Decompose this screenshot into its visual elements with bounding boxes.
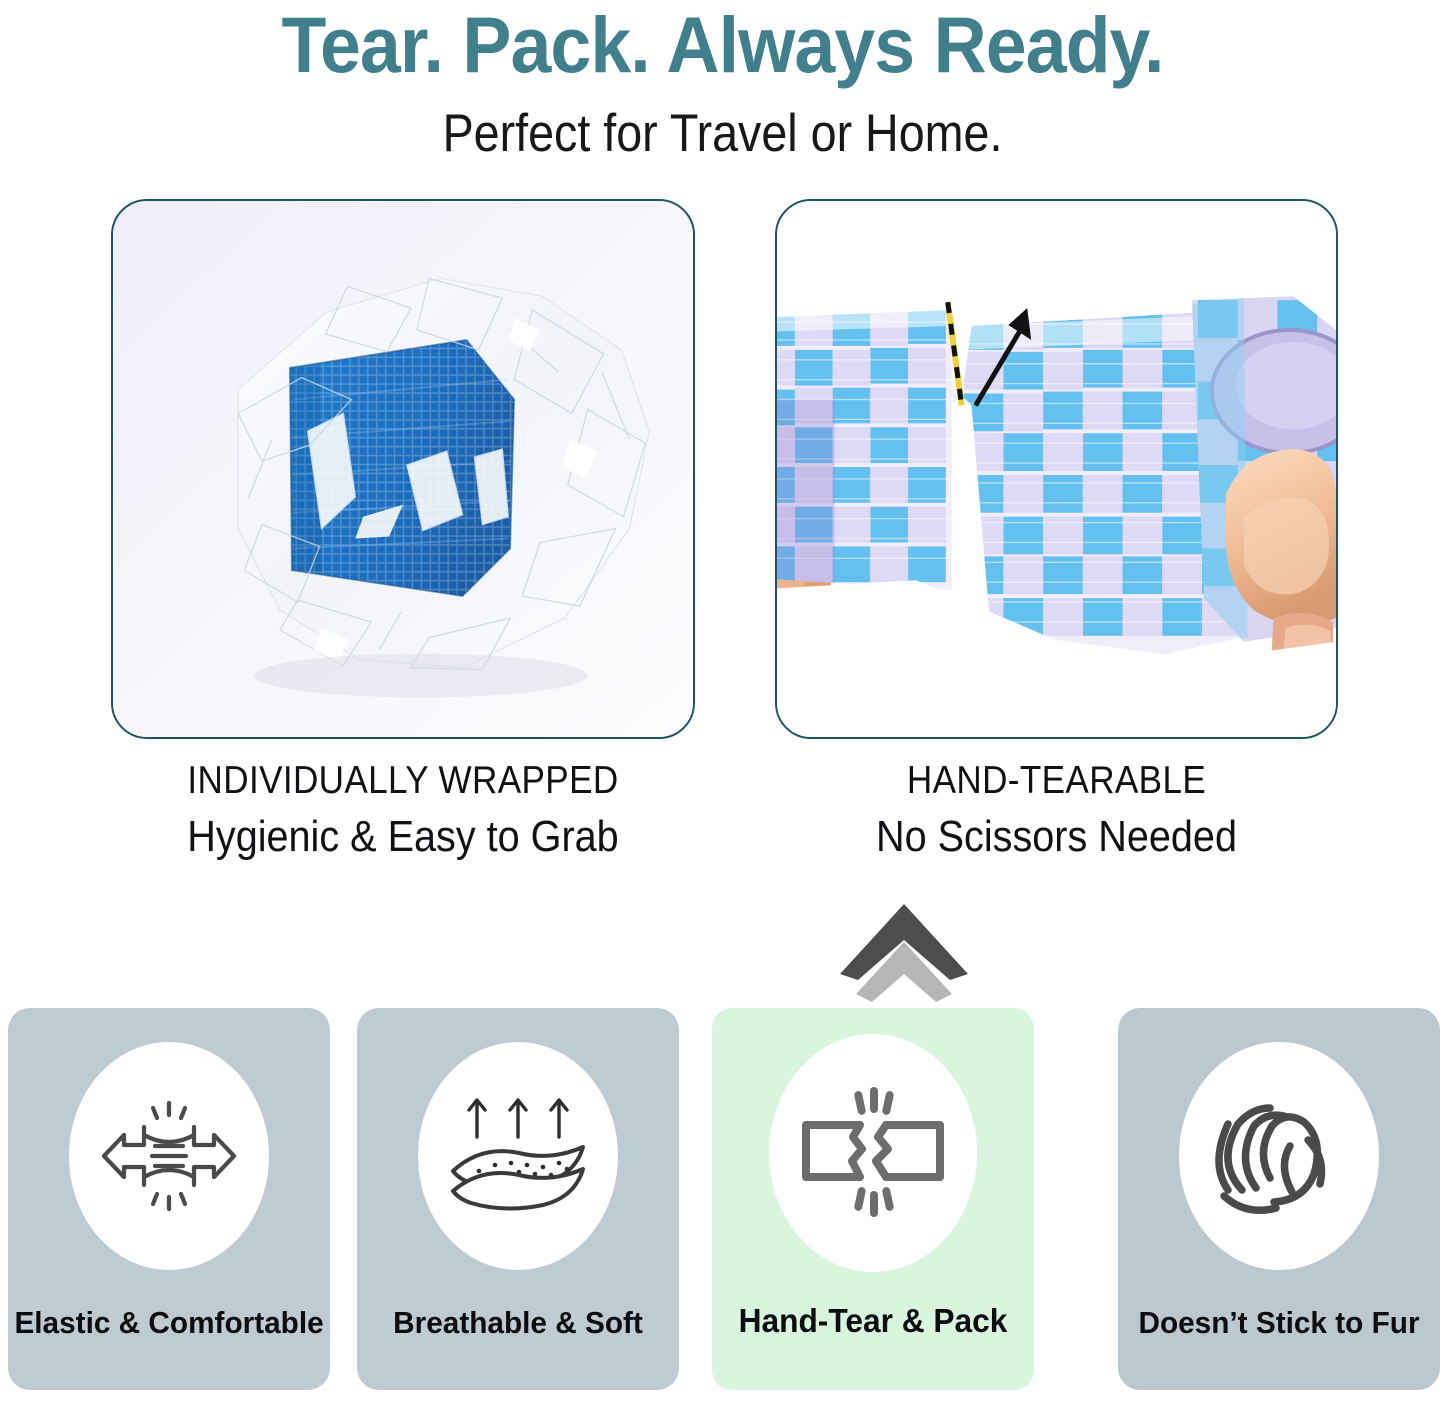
- breathable-fabric-icon: [447, 1093, 589, 1219]
- feature-card-label: Doesn’t Stick to Fur: [1124, 1302, 1433, 1344]
- feature-card-label: Elastic & Comfortable: [14, 1302, 323, 1344]
- feature-card-label: Hand-Tear & Pack: [718, 1300, 1027, 1342]
- caption-title: HAND-TEARABLE: [803, 755, 1310, 807]
- feature-card-breathable-soft[interactable]: Breathable & Soft: [357, 1008, 679, 1390]
- fur-swirl-icon: [1212, 1090, 1346, 1222]
- feature-card-doesnt-stick-to-fur[interactable]: Doesn’t Stick to Fur: [1118, 1008, 1440, 1390]
- photo-card-individually-wrapped: [111, 199, 695, 739]
- feature-icon-plate: [769, 1034, 977, 1272]
- feature-icon-plate: [418, 1042, 618, 1270]
- feature-card-label: Breathable & Soft: [363, 1302, 672, 1344]
- hand-tearable-photo: [777, 201, 1336, 737]
- caption-subtitle: No Scissors Needed: [803, 807, 1310, 867]
- page-headline: Tear. Pack. Always Ready.: [51, 2, 1395, 88]
- individually-wrapped-photo: [113, 201, 693, 737]
- caption-subtitle: Hygienic & Easy to Grab: [140, 807, 666, 867]
- feature-icon-plate: [1179, 1042, 1379, 1270]
- feature-icon-plate: [69, 1042, 269, 1270]
- caption-title: INDIVIDUALLY WRAPPED: [140, 755, 666, 807]
- page-subheadline: Perfect for Travel or Home.: [87, 103, 1359, 165]
- torn-tape-icon: [798, 1085, 948, 1221]
- feature-card-hand-tear-pack[interactable]: Hand-Tear & Pack: [712, 1008, 1034, 1390]
- caption-hand-tearable: HAND-TEARABLE No Scissors Needed: [775, 755, 1338, 867]
- double-chevron-down-icon: [838, 902, 970, 1014]
- stretch-arrows-icon: [100, 1091, 238, 1221]
- caption-individually-wrapped: INDIVIDUALLY WRAPPED Hygienic & Easy to …: [111, 755, 695, 867]
- feature-card-elastic-comfortable[interactable]: Elastic & Comfortable: [8, 1008, 330, 1390]
- photo-card-hand-tearable: [775, 199, 1338, 739]
